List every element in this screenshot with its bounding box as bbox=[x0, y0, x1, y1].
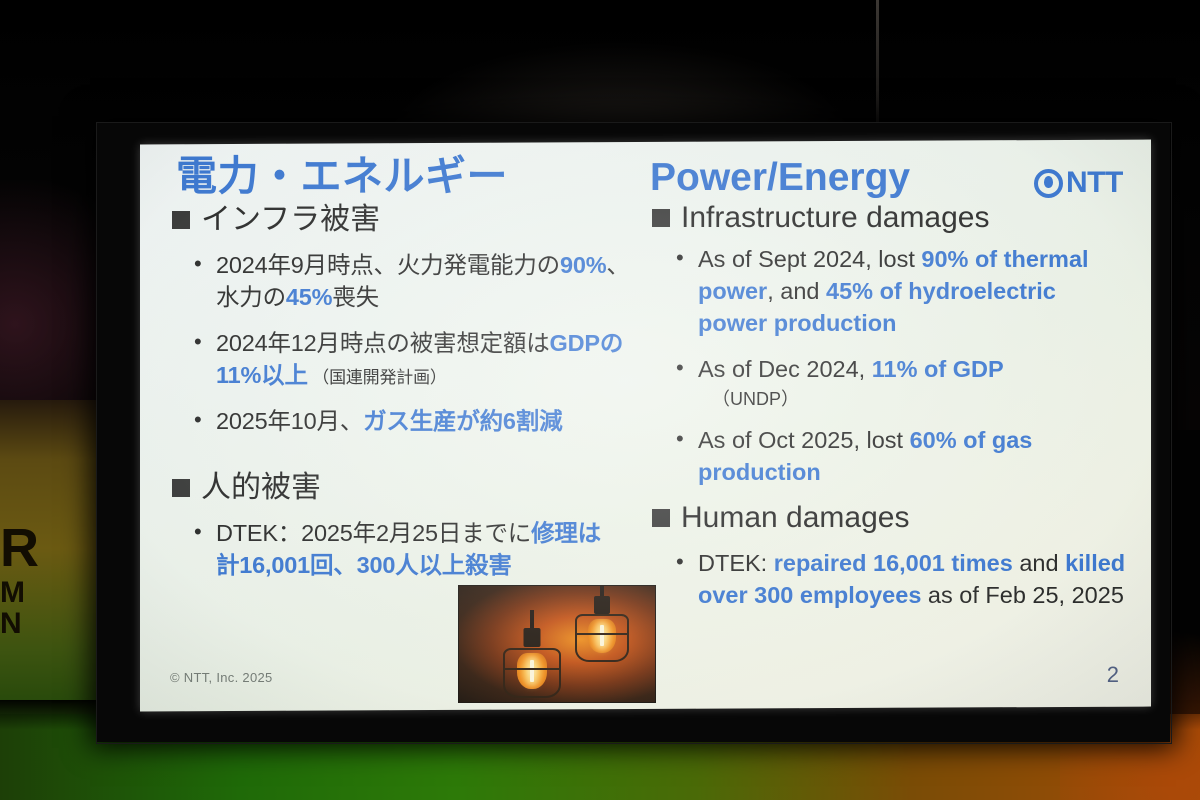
bullet-emphasis-text: 11% of GDP bbox=[872, 356, 1004, 382]
copyright-notice: © NTT, Inc. 2025 bbox=[170, 670, 273, 685]
section-heading-label: インフラ被害 bbox=[201, 202, 380, 237]
bullet-emphasis-text: 45% bbox=[286, 284, 332, 310]
bulb-cage-bar bbox=[577, 633, 627, 635]
bullet-text: , and bbox=[767, 278, 826, 304]
bullet-text: DTEK: bbox=[698, 550, 774, 576]
bullet-item: 2024年9月時点、火力発電能力の90%、水力の45%喪失 bbox=[186, 250, 646, 314]
presentation-slide: 電力・エネルギー Power/Energy NTT インフラ被害 2024年9月… bbox=[140, 140, 1151, 712]
page-number: 2 bbox=[1107, 662, 1119, 688]
bullet-text: DTEK：2025年2月25日までに bbox=[216, 520, 531, 546]
bullet-item: DTEK：2025年2月25日までに修理は計16,001回、300人以上殺害 bbox=[186, 518, 606, 582]
bullet-item: As of Sept 2024, lost 90% of thermal pow… bbox=[668, 244, 1130, 340]
ntt-circle-mark-icon bbox=[1034, 169, 1063, 198]
section-heading-label: 人的被害 bbox=[201, 470, 321, 505]
banner-partial-letters: R M N bbox=[0, 520, 60, 730]
bullet-emphasis-text: ガス生産が約6割減 bbox=[363, 408, 562, 434]
bullet-text: and bbox=[1013, 550, 1065, 576]
bullet-text: 2025年10月、 bbox=[216, 408, 363, 434]
bullet-item: As of Oct 2025, lost 60% of gas producti… bbox=[668, 425, 1130, 489]
section-heading-label: Human damages bbox=[681, 500, 909, 535]
square-bullet-icon bbox=[172, 211, 190, 229]
bullet-text: as of Feb 25, 2025 bbox=[921, 582, 1124, 608]
bullet-list-infrastructure-en: As of Sept 2024, lost 90% of thermal pow… bbox=[668, 244, 1130, 503]
bullet-list-human-en: DTEK: repaired 16,001 times and killed o… bbox=[668, 548, 1130, 626]
banner-letter-n: N bbox=[0, 608, 60, 640]
ntt-logo: NTT bbox=[1034, 168, 1123, 198]
bullet-source-note: （UNDP） bbox=[712, 387, 1130, 411]
ntt-logo-text: NTT bbox=[1066, 168, 1123, 198]
bulb-cage-bar bbox=[505, 668, 559, 670]
bulb-socket bbox=[594, 596, 610, 614]
bullet-item: 2025年10月、ガス生産が約6割減 bbox=[186, 406, 646, 438]
banner-letter-m: M bbox=[0, 577, 60, 609]
bullet-item: As of Dec 2024, 11% of GDP（UNDP） bbox=[668, 354, 1130, 411]
bullet-text: 喪失 bbox=[332, 284, 379, 310]
bullet-item: DTEK: repaired 16,001 times and killed o… bbox=[668, 548, 1130, 612]
bullet-text: As of Sept 2024, lost bbox=[698, 246, 921, 272]
bullet-text: 2024年12月時点の被害想定額は bbox=[216, 330, 550, 356]
caged-bulb-front bbox=[493, 626, 571, 698]
bulb-filament bbox=[600, 625, 604, 646]
square-bullet-icon bbox=[652, 209, 670, 227]
bullet-list-infrastructure-ja: 2024年9月時点、火力発電能力の90%、水力の45%喪失2024年12月時点の… bbox=[186, 250, 646, 452]
section-heading-label: Infrastructure damages bbox=[681, 200, 989, 235]
bullet-text: 2024年9月時点、火力発電能力の bbox=[216, 252, 560, 278]
bullet-text: As of Oct 2025, lost bbox=[698, 427, 910, 453]
bullet-emphasis-text: repaired 16,001 times bbox=[774, 550, 1013, 576]
bullet-emphasis-text: 90% bbox=[560, 252, 606, 278]
photo-of-conference-room: R M N 電力・エネルギー Power/Energy NTT インフラ被害 2… bbox=[0, 0, 1200, 800]
bullet-text: （国連開発計画） bbox=[308, 368, 447, 387]
caged-bulb-back bbox=[563, 594, 641, 666]
bullet-text: As of Dec 2024, bbox=[698, 356, 872, 382]
square-bullet-icon bbox=[652, 509, 670, 527]
square-bullet-icon bbox=[172, 479, 190, 497]
slide-title-japanese: 電力・エネルギー bbox=[176, 156, 508, 197]
section-heading-human-ja: 人的被害 bbox=[172, 470, 321, 505]
banner-letter-r: R bbox=[0, 520, 60, 577]
bulb-socket bbox=[524, 628, 541, 647]
slide-title-english: Power/Energy bbox=[650, 158, 910, 197]
lightbulb-photo bbox=[458, 585, 656, 703]
bulb-filament bbox=[530, 660, 534, 682]
bulb-cord bbox=[530, 610, 534, 630]
bullet-item: 2024年12月時点の被害想定額はGDPの11%以上 （国連開発計画） bbox=[186, 328, 646, 392]
section-heading-human-en: Human damages bbox=[652, 500, 909, 535]
section-heading-infrastructure-en: Infrastructure damages bbox=[652, 200, 989, 235]
section-heading-infrastructure-ja: インフラ被害 bbox=[172, 202, 380, 237]
